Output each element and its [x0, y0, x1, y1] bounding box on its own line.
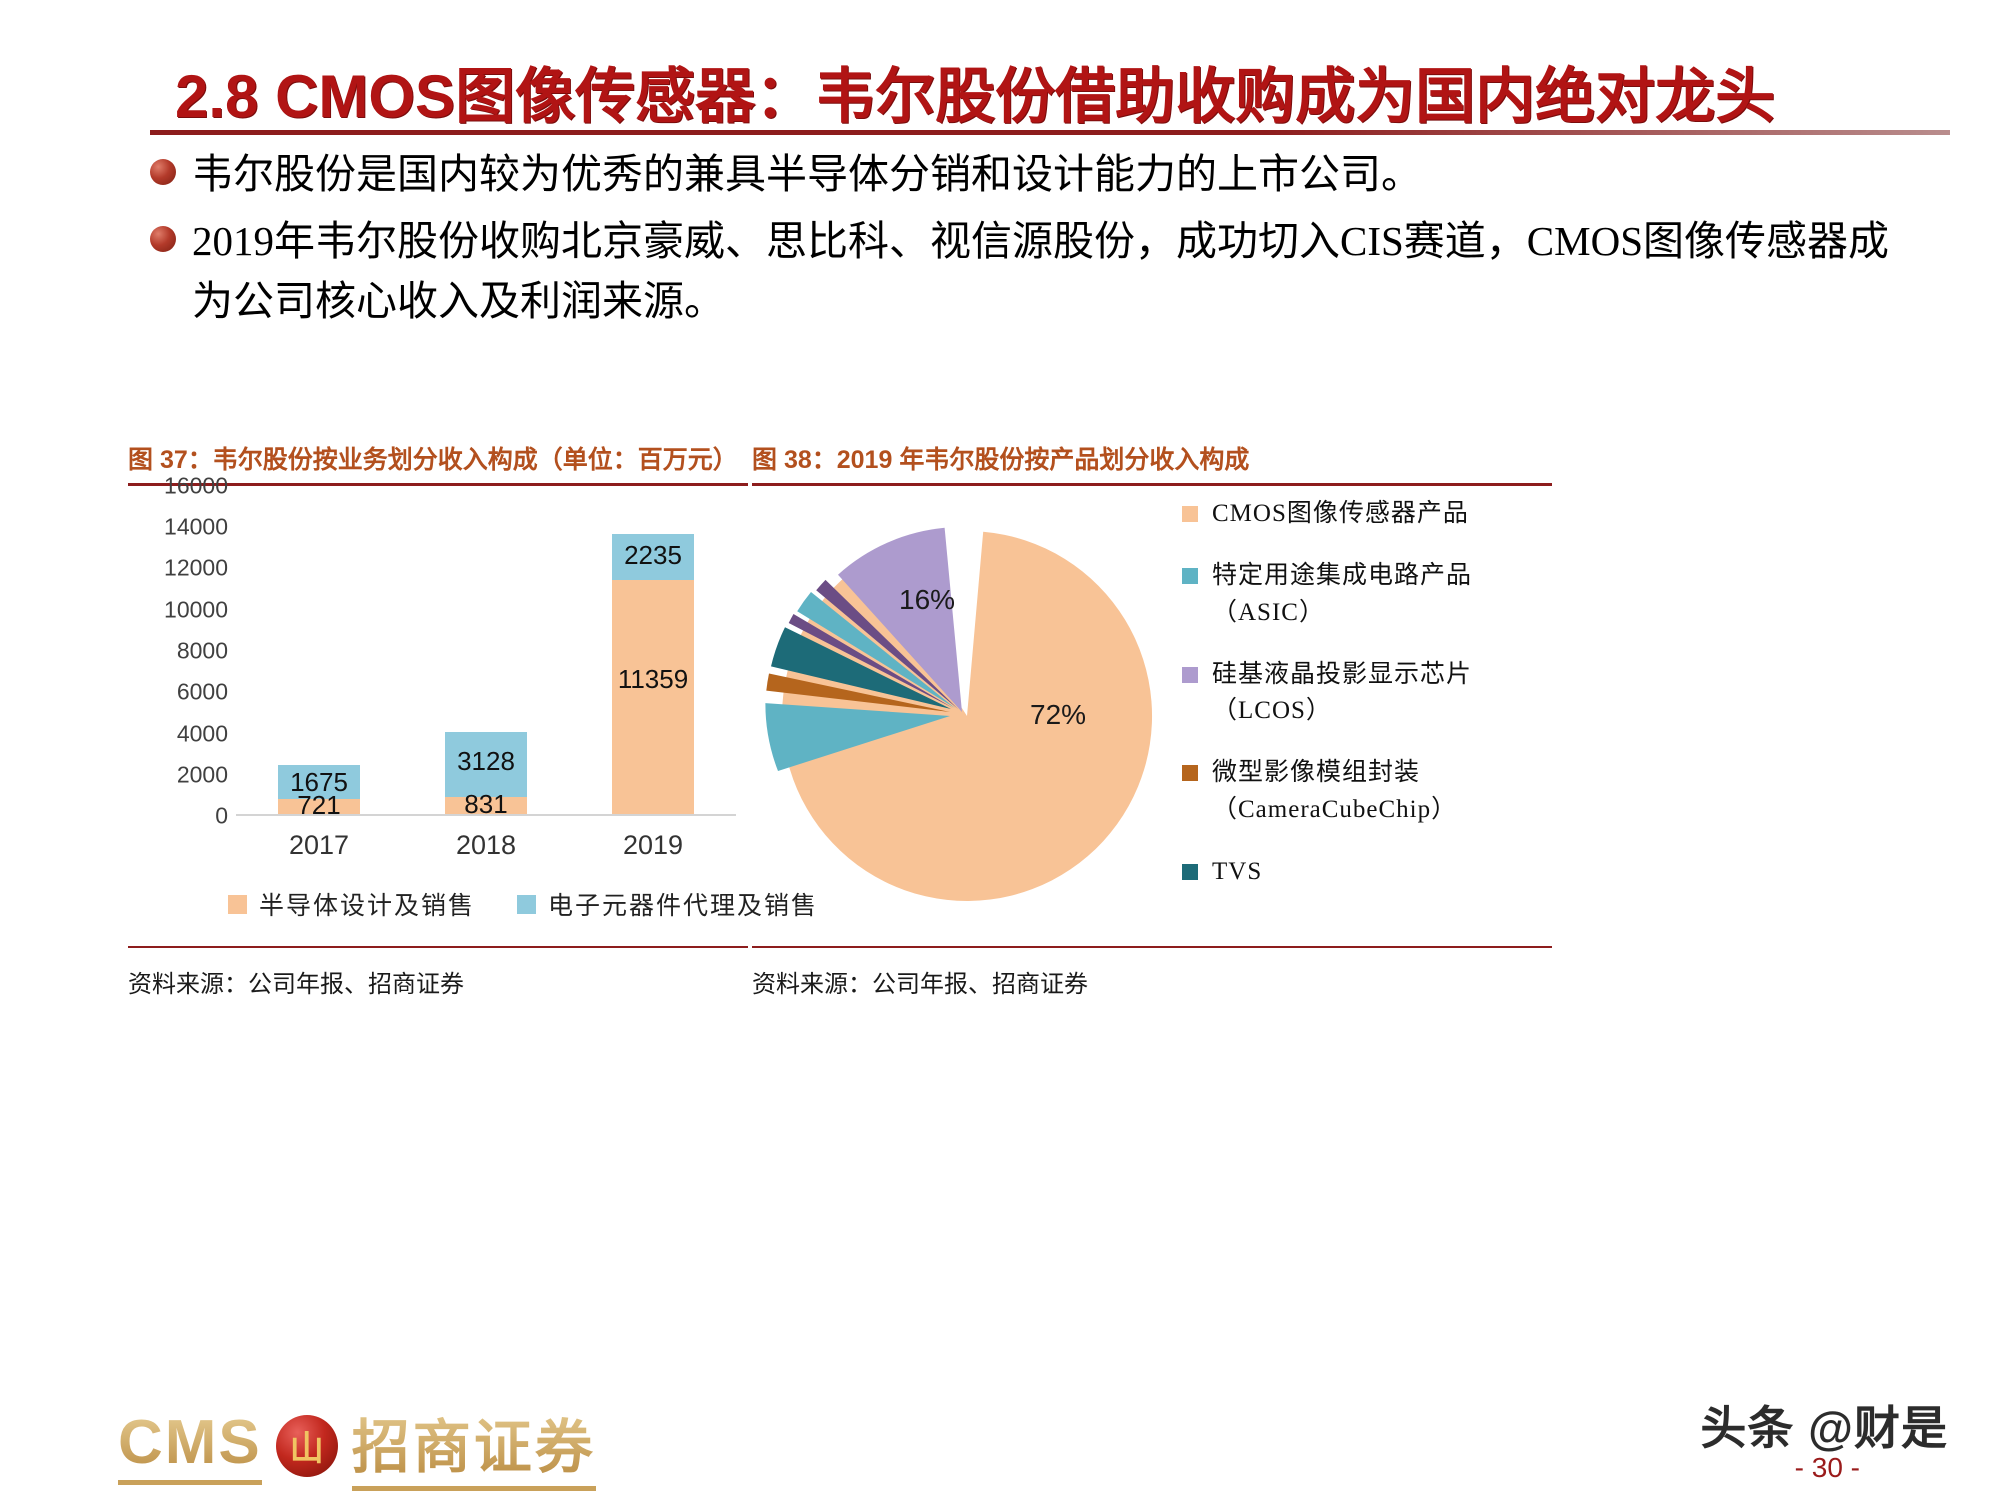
y-tick-4000: 4000	[177, 721, 228, 748]
bullet-text: 韦尔股份是国内较为优秀的兼具半导体分销和设计能力的上市公司。	[192, 145, 1422, 204]
bar-2019-semi-seg[interactable]: 11359	[612, 580, 694, 814]
figure-38-panel: 图 38：2019 年韦尔股份按产品划分收入构成	[752, 440, 1552, 999]
x-tick-2017: 2017	[249, 830, 389, 861]
y-tick-2000: 2000	[177, 762, 228, 789]
x-tick-2018: 2018	[416, 830, 556, 861]
legend-item-tvs[interactable]: TVS	[1182, 854, 1552, 890]
pie-label-72: 72%	[1030, 699, 1086, 731]
legend-swatch-icon	[1182, 506, 1198, 522]
bar-2019-semi-label: 11359	[612, 664, 694, 695]
bar-2018-electronics-seg[interactable]: 3128	[445, 732, 527, 797]
x-tick-2019: 2019	[583, 830, 723, 861]
legend-item-semiconductor[interactable]: 半导体设计及销售	[228, 886, 475, 922]
company-logo: CMS 招商证券	[118, 1400, 596, 1491]
bar-2018-electronics-label: 3128	[445, 746, 527, 777]
legend-item-cmos[interactable]: CMOS图像传感器产品	[1182, 496, 1552, 532]
y-tick-14000: 14000	[164, 514, 228, 541]
legend-label: 微型影像模组封装（CameraCubeChip）	[1212, 755, 1552, 828]
pie-label-16: 16%	[899, 584, 955, 616]
legend-label: CMOS图像传感器产品	[1212, 496, 1469, 532]
figure-38-heading: 图 38：2019 年韦尔股份按产品划分收入构成	[752, 440, 1552, 483]
bar-chart-y-axis: 16000 14000 12000 10000 8000 6000 4000 2…	[128, 486, 228, 816]
bullet-list: 韦尔股份是国内较为优秀的兼具半导体分销和设计能力的上市公司。 2019年韦尔股份…	[150, 145, 1950, 339]
y-tick-0: 0	[215, 803, 228, 830]
bar-2018-semi-seg[interactable]: 831	[445, 797, 527, 814]
slide-root: 2.8 CMOS图像传感器：韦尔股份借助收购成为国内绝对龙头 韦尔股份是国内较为…	[0, 0, 2000, 1500]
list-item: 韦尔股份是国内较为优秀的兼具半导体分销和设计能力的上市公司。	[150, 145, 1950, 204]
legend-item-asic[interactable]: 特定用途集成电路产品（ASIC）	[1182, 558, 1552, 631]
bar-2018-semi-label: 831	[445, 789, 527, 820]
figure-37-source: 资料来源：公司年报、招商证券	[128, 948, 748, 999]
legend-item-cameracubechip[interactable]: 微型影像模组封装（CameraCubeChip）	[1182, 755, 1552, 828]
y-tick-16000: 16000	[164, 473, 228, 500]
bar-2017[interactable]: 1675 721	[278, 765, 360, 814]
logo-chinese-text: 招商证券	[352, 1400, 596, 1491]
pie-chart-svg	[732, 486, 1202, 926]
legend-swatch-icon	[1182, 765, 1198, 781]
title-divider	[150, 130, 1950, 135]
bullet-dot-icon	[150, 159, 176, 185]
bullet-text: 2019年韦尔股份收购北京豪威、思比科、视信源股份，成功切入CIS赛道，CMOS…	[192, 212, 1892, 331]
legend-swatch-icon	[1182, 864, 1198, 880]
page-number: - 30 -	[1795, 1452, 1860, 1484]
y-tick-10000: 10000	[164, 597, 228, 624]
bar-2018[interactable]: 3128 831	[445, 732, 527, 814]
bullet-dot-icon	[150, 226, 176, 252]
figure-38-source: 资料来源：公司年报、招商证券	[752, 948, 1552, 999]
pie-chart-legend: CMOS图像传感器产品 特定用途集成电路产品（ASIC） 硅基液晶投影显示芯片（…	[1182, 496, 1552, 916]
legend-label: 硅基液晶投影显示芯片（LCOS）	[1212, 657, 1552, 730]
bar-2019-electronics-label: 2235	[612, 540, 694, 571]
figure-37-chart: 16000 14000 12000 10000 8000 6000 4000 2…	[128, 486, 748, 946]
logo-latin-text: CMS	[118, 1407, 262, 1485]
bar-2017-semi-label: 721	[278, 790, 360, 821]
legend-swatch-icon	[517, 895, 536, 914]
y-tick-8000: 8000	[177, 638, 228, 665]
bar-2019-electronics-seg[interactable]: 2235	[612, 534, 694, 580]
page-title: 2.8 CMOS图像传感器：韦尔股份借助收购成为国内绝对龙头	[175, 48, 1965, 135]
watermark: 头条 @财是	[1700, 1392, 1948, 1458]
legend-swatch-icon	[1182, 568, 1198, 584]
y-tick-6000: 6000	[177, 679, 228, 706]
figure-37-panel: 图 37：韦尔股份按业务划分收入构成（单位：百万元） 16000 14000 1…	[128, 440, 748, 999]
legend-label: 特定用途集成电路产品（ASIC）	[1212, 558, 1552, 631]
y-tick-12000: 12000	[164, 555, 228, 582]
bar-chart-plot-area: 1675 721 2017 3128 831 2018	[236, 486, 736, 816]
legend-swatch-icon	[1182, 667, 1198, 683]
mountain-emblem-icon	[276, 1415, 338, 1477]
bar-chart-legend: 半导体设计及销售 电子元器件代理及销售	[228, 886, 818, 922]
legend-label: 半导体设计及销售	[259, 886, 475, 922]
legend-label: TVS	[1212, 854, 1262, 890]
legend-item-lcos[interactable]: 硅基液晶投影显示芯片（LCOS）	[1182, 657, 1552, 730]
figure-38-chart: 16% 72% CMOS图像传感器产品 特定用途集成电路产品（ASIC） 硅基液…	[752, 486, 1552, 946]
bar-2019[interactable]: 2235 11359	[612, 534, 694, 814]
list-item: 2019年韦尔股份收购北京豪威、思比科、视信源股份，成功切入CIS赛道，CMOS…	[150, 212, 1950, 331]
bar-2017-semi-seg[interactable]: 721	[278, 799, 360, 814]
legend-swatch-icon	[228, 895, 247, 914]
